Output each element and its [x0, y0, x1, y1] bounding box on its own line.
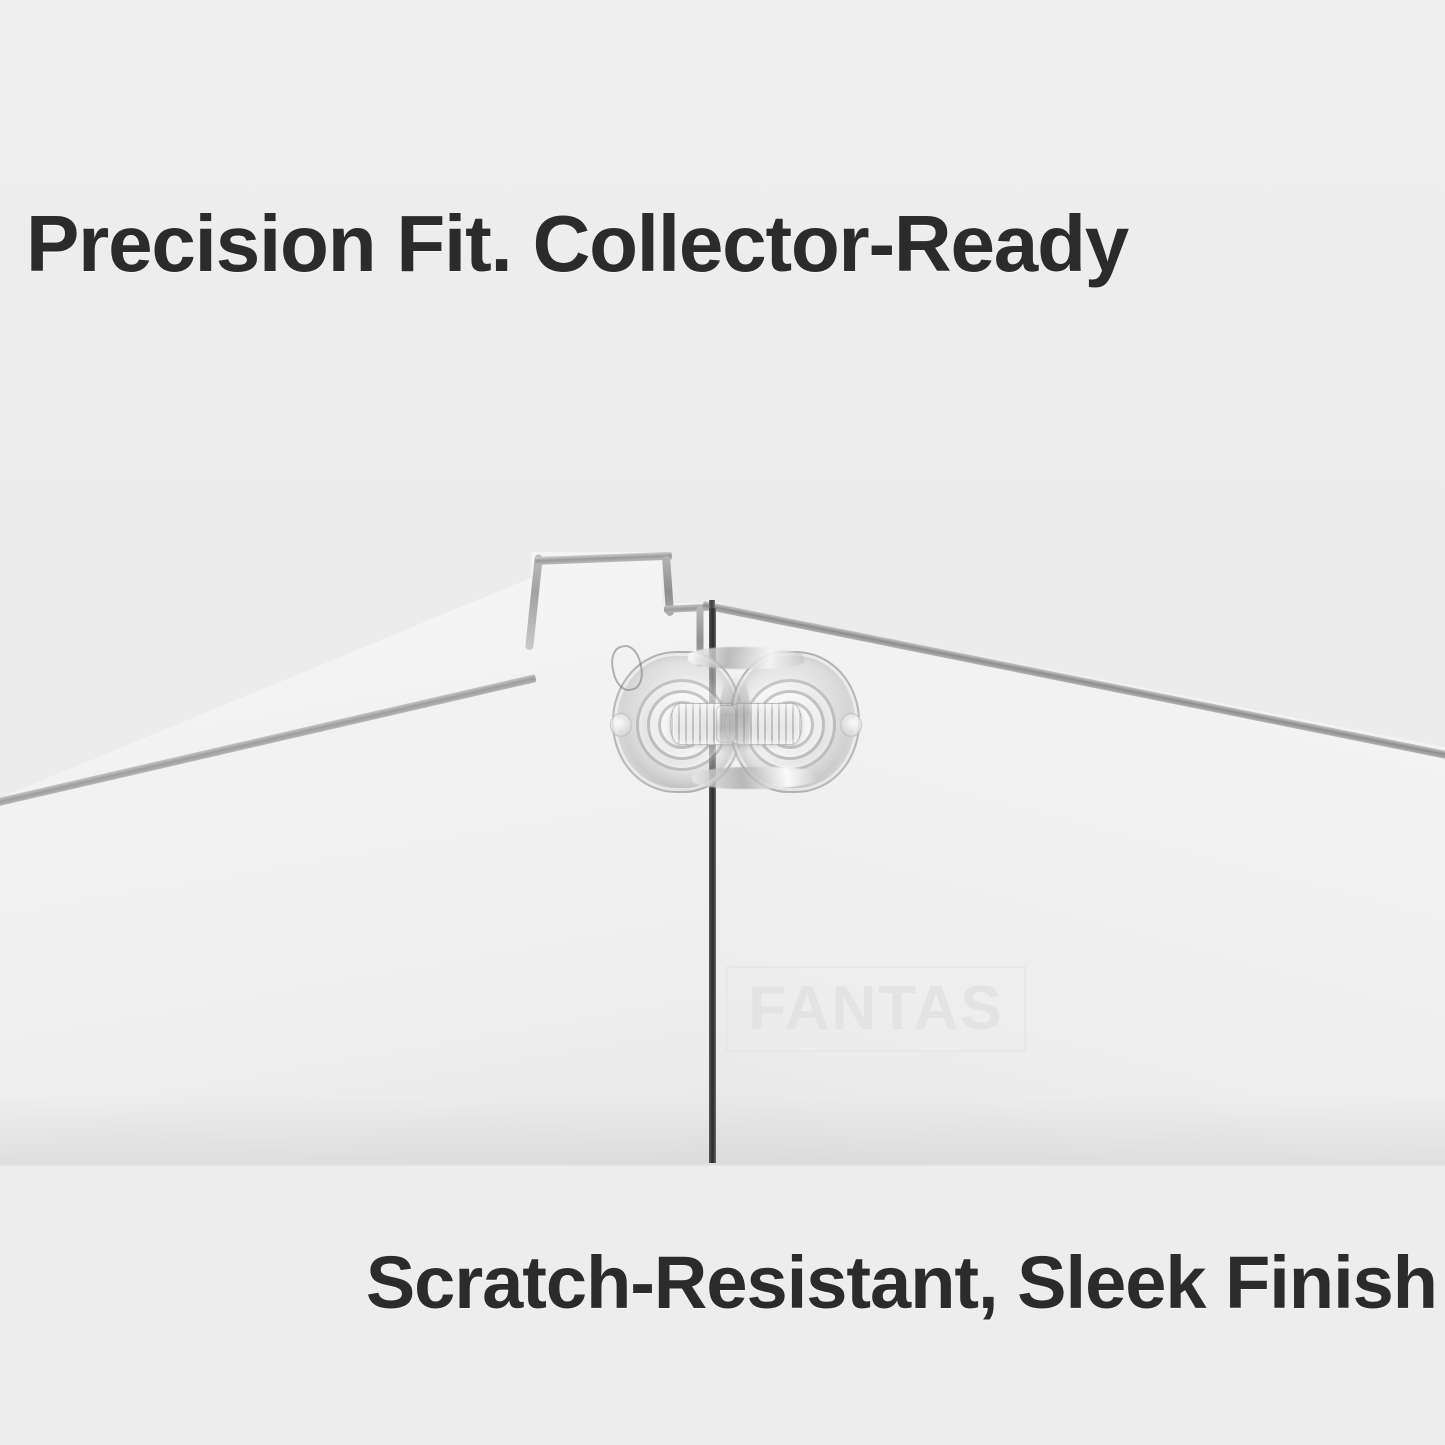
- connector-bottom-highlight: [692, 767, 818, 789]
- headline-top: Precision Fit. Collector-Ready: [26, 203, 1128, 285]
- lobe-side-nub: [840, 713, 862, 737]
- connector-center-refraction: [720, 673, 750, 765]
- headline-bottom: Scratch-Resistant, Sleek Finish: [366, 1245, 1437, 1320]
- lobe-side-nub: [610, 713, 632, 737]
- connector-top-highlight: [688, 647, 804, 669]
- watermark-box: FANTAS: [726, 966, 1026, 1052]
- left-acrylic-panel: [0, 540, 724, 1170]
- watermark-text: FANTAS: [748, 978, 1003, 1040]
- product-photo-scene: FANTAS Precision Fit. Collector-Ready Sc…: [0, 0, 1445, 1445]
- panel-contact-shadow: [0, 1095, 1445, 1167]
- acrylic-connector: [612, 645, 860, 795]
